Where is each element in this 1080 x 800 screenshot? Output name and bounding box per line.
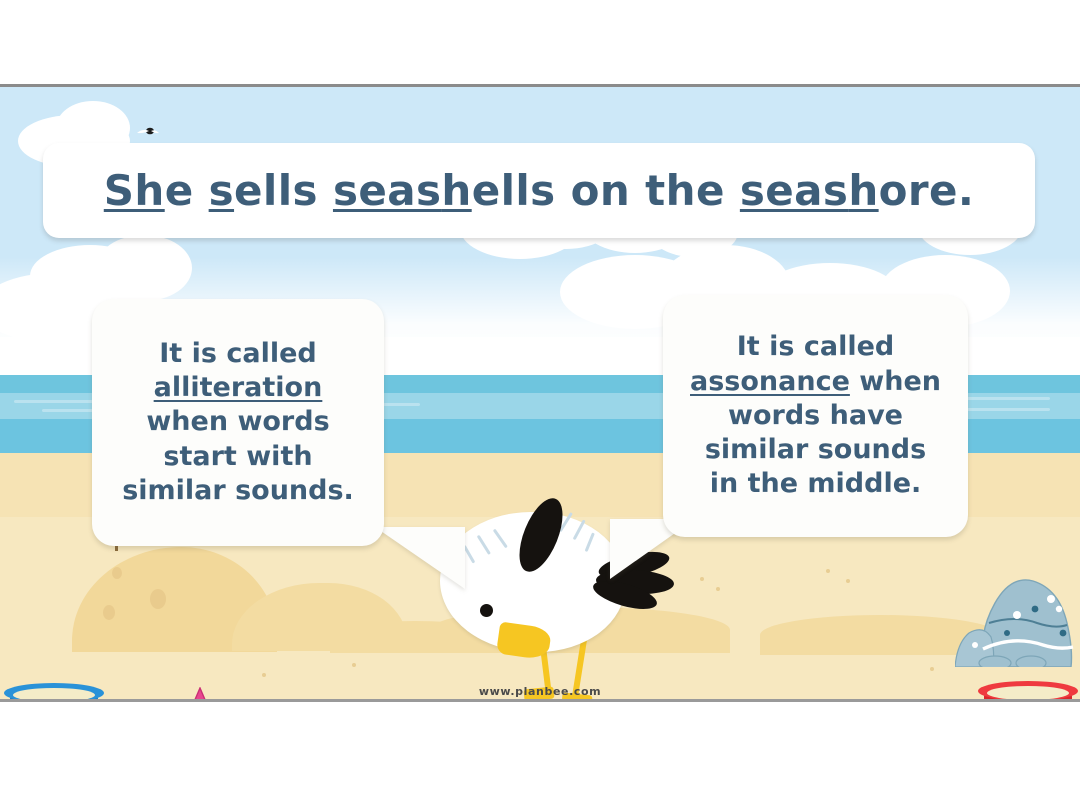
sand-speck [716, 587, 720, 591]
sand-speck [826, 569, 830, 573]
sand-speck [846, 579, 850, 583]
alliteration-definition-text: It is calledalliterationwhen wordsstart … [122, 337, 354, 508]
sand-hole [150, 589, 166, 609]
page-title: She sells seashells on the seashore. [104, 166, 974, 215]
speech-bubble-assonance: It is calledassonance whenwords havesimi… [663, 295, 968, 537]
watermark: www.planbee.com [0, 685, 1080, 698]
sand-speck [352, 663, 356, 667]
assonance-definition-text: It is calledassonance whenwords havesimi… [690, 330, 941, 501]
speech-bubble-alliteration: It is calledalliterationwhen wordsstart … [92, 299, 384, 546]
slide-canvas: She sells seashells on the seashore. It … [0, 84, 1080, 702]
rocks-icon [955, 557, 1080, 667]
sand-hole [103, 605, 115, 620]
sand-speck [262, 673, 266, 677]
sand-hole [112, 567, 122, 579]
seagull-eye [480, 604, 493, 617]
sand-speck [930, 667, 934, 671]
sky-bird-icon [137, 127, 159, 136]
title-card: She sells seashells on the seashore. [43, 143, 1035, 238]
